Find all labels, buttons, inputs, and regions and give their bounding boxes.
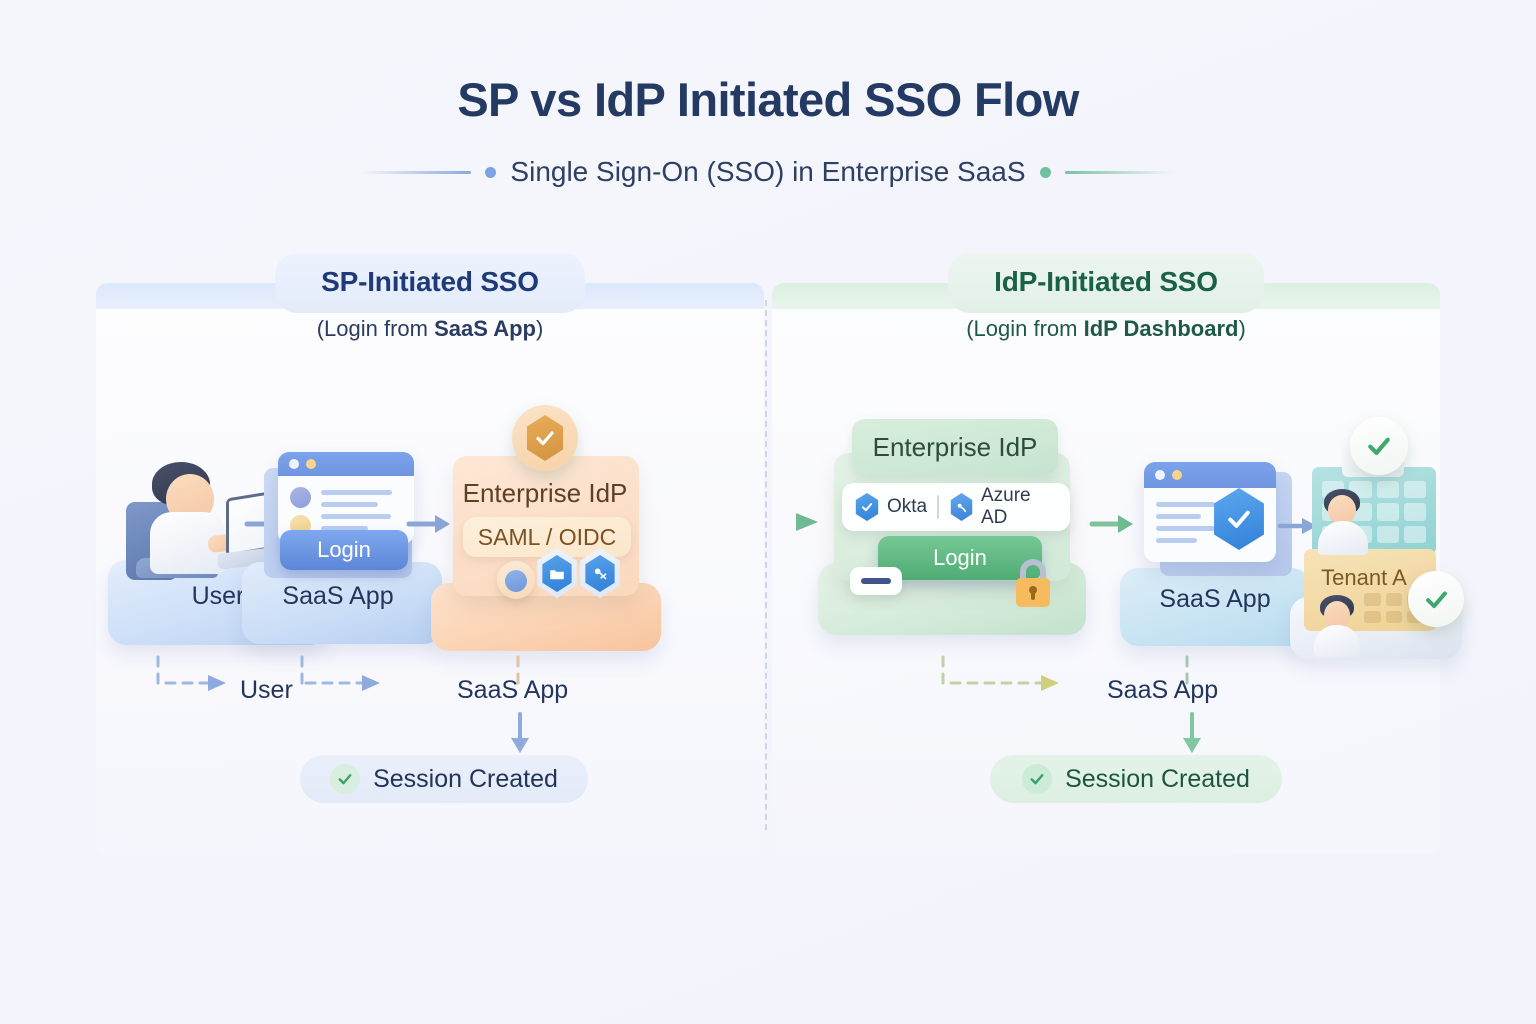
- idp-vendor-pill: Okta Azure AD: [842, 483, 1070, 531]
- check-glyph: [860, 500, 874, 514]
- vendor-azure-label: Azure AD: [981, 485, 1058, 529]
- text-line: [1156, 502, 1215, 507]
- swirl-glyph: [954, 500, 969, 515]
- window-cell: [1404, 481, 1426, 498]
- text-line: [1156, 526, 1215, 531]
- window-cell: [1364, 593, 1381, 606]
- node-enterprise-idp-right: Enterprise IdP Okta Azure AD Login: [818, 405, 1098, 650]
- check-glyph: [1422, 585, 1451, 614]
- vendor-okta-label: Okta: [887, 496, 927, 518]
- padlock-glyph: [1010, 557, 1056, 611]
- vendor-okta: Okta: [854, 493, 927, 521]
- node-tenant: Tenant A: [1290, 415, 1475, 665]
- check-glyph: [1028, 770, 1046, 788]
- padlock-icon: [1010, 557, 1056, 611]
- window-titlebar-right: [1144, 462, 1276, 488]
- idp-input-chip: [850, 567, 902, 595]
- flow-label-saas-right: SaaS App: [1107, 676, 1218, 705]
- session-created-pill-right: Session Created: [990, 755, 1282, 803]
- session-check-icon-right: [1022, 764, 1052, 794]
- diagram-canvas: SP vs IdP Initiated SSO Flow Single Sign…: [0, 0, 1536, 1024]
- check-glyph: [1224, 504, 1254, 534]
- vendor-azure-ad: Azure AD: [949, 485, 1058, 529]
- vendor-separator: [937, 495, 939, 519]
- window-cell: [1377, 503, 1399, 520]
- window-cell: [1364, 611, 1381, 624]
- scene-idp-initiated: Enterprise IdP Okta Azure AD Login: [0, 0, 1536, 1024]
- session-created-label-right: Session Created: [1065, 765, 1250, 794]
- window-cell: [1404, 526, 1426, 543]
- azure-ad-icon: [949, 493, 974, 521]
- window-cell: [1386, 593, 1403, 606]
- window-cell: [1377, 481, 1399, 498]
- window-dot-1-icon: [1155, 470, 1165, 480]
- window-dot-2-icon: [1172, 470, 1182, 480]
- tenant-avatar-body: [1314, 625, 1360, 657]
- window-cell: [1386, 611, 1403, 624]
- text-line: [1156, 538, 1197, 543]
- window-cell: [1404, 503, 1426, 520]
- tenant-check-badge-top: [1350, 417, 1408, 475]
- okta-shield-icon: [854, 493, 880, 521]
- arrow-down-session-right: [1177, 712, 1207, 756]
- text-line: [1156, 514, 1201, 519]
- tenant-check-badge-bottom: [1408, 571, 1464, 627]
- chip-dash-icon: [861, 578, 891, 584]
- saas-pedestal-label-right: SaaS App: [1120, 585, 1310, 614]
- window-cell: [1377, 526, 1399, 543]
- tenant-avatar-bottom: [1314, 595, 1364, 657]
- tenant-avatar-body: [1318, 521, 1368, 555]
- idp-card-title-right: Enterprise IdP: [852, 419, 1058, 475]
- check-glyph: [1364, 431, 1394, 461]
- tenant-avatar-top: [1316, 489, 1370, 555]
